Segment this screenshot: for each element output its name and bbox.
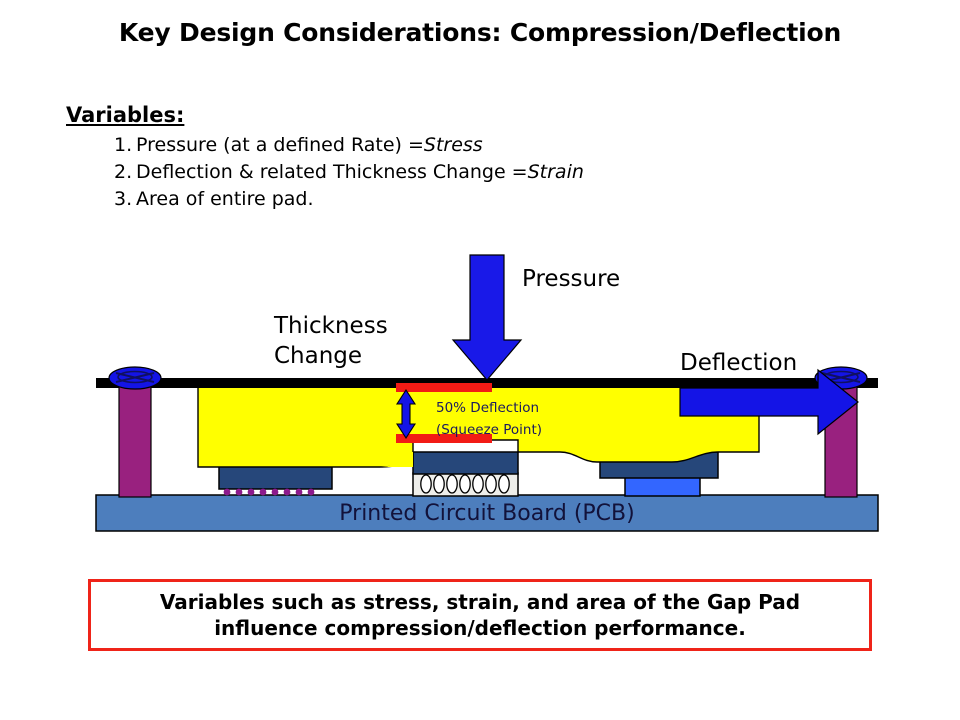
- thickness-change-label-line2: Change: [274, 343, 362, 369]
- list-item-text: Pressure (at a defined Rate) =: [136, 132, 424, 159]
- component-right-base: [625, 477, 700, 496]
- pcb-label: Printed Circuit Board (PCB): [339, 501, 634, 526]
- list-item: 2. Deflection & related Thickness Change…: [66, 159, 766, 186]
- squeeze-bar-top: [396, 383, 492, 392]
- slide-root: Key Design Considerations: Compression/D…: [0, 0, 960, 720]
- list-item-number: 1.: [114, 132, 132, 159]
- variables-list: 1. Pressure (at a defined Rate) = Stress…: [66, 132, 766, 213]
- callout-box: Variables such as stress, strain, and ar…: [88, 579, 872, 651]
- pressure-label: Pressure: [522, 266, 620, 292]
- page-title: Key Design Considerations: Compression/D…: [0, 18, 960, 47]
- squeeze-label-line2: (Squeeze Point): [436, 422, 542, 438]
- thickness-change-label-line1: Thickness: [273, 313, 388, 339]
- list-item: 3. Area of entire pad.: [66, 186, 766, 213]
- variables-block: Variables: 1. Pressure (at a defined Rat…: [66, 103, 766, 213]
- list-item-emphasis: Strain: [528, 161, 584, 183]
- screw-head-left-icon: [109, 367, 161, 389]
- deflection-label: Deflection: [680, 350, 797, 376]
- list-item-emphasis: Stress: [424, 134, 483, 156]
- assembly-diagram: Printed Circuit Board (PCB): [0, 230, 960, 550]
- list-item-number: 3.: [114, 186, 132, 213]
- squeeze-label-line1: 50% Deflection: [436, 400, 539, 416]
- screw-post-left: [119, 382, 151, 497]
- callout-line-2: influence compression/deflection perform…: [214, 615, 746, 641]
- component-center-chip: [413, 452, 518, 474]
- pressure-arrow-icon: [453, 255, 521, 380]
- list-item-number: 2.: [114, 159, 132, 186]
- list-item-text: Area of entire pad.: [136, 186, 314, 213]
- list-item: 1. Pressure (at a defined Rate) = Stress: [66, 132, 766, 159]
- callout-line-1: Variables such as stress, strain, and ar…: [160, 589, 800, 615]
- variables-heading: Variables:: [66, 103, 184, 127]
- list-item-text: Deflection & related Thickness Change =: [136, 159, 528, 186]
